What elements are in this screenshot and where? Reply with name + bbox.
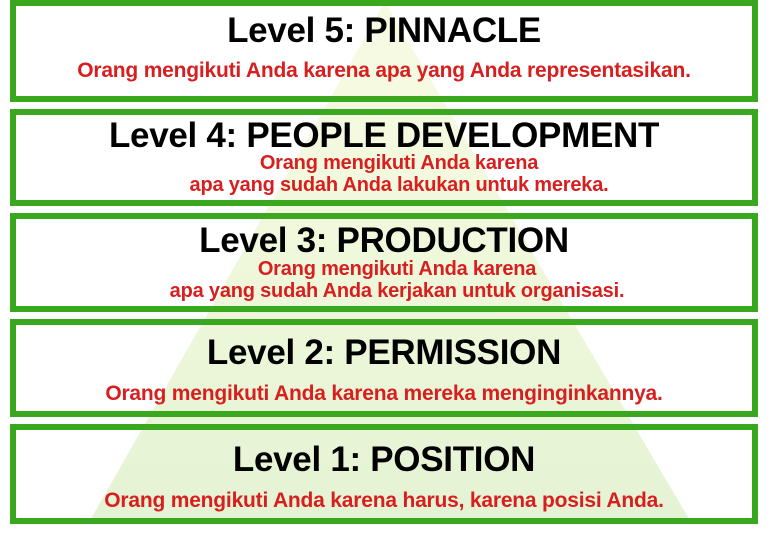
level-4-description-line-1: Orang mengikuti Anda karena	[46, 152, 752, 174]
level-box-level-2[interactable]: Level 2: PERMISSION Orang mengikuti Anda…	[10, 319, 758, 417]
level-3-title: Level 3: PRODUCTION	[16, 223, 752, 259]
level-3-description: Orang mengikuti Anda karena apa yang sud…	[16, 258, 752, 303]
level-2-description: Orang mengikuti Anda karena mereka mengi…	[16, 382, 752, 406]
level-5-description: Orang mengikuti Anda karena apa yang And…	[16, 59, 752, 83]
level-4-title: Level 4: PEOPLE DEVELOPMENT	[16, 118, 752, 154]
level-5-title: Level 5: PINNACLE	[16, 13, 752, 49]
level-box-level-3[interactable]: Level 3: PRODUCTION Orang mengikuti Anda…	[10, 213, 758, 311]
level-box-level-4[interactable]: Level 4: PEOPLE DEVELOPMENT Orang mengik…	[10, 109, 758, 206]
level-1-description: Orang mengikuti Anda karena harus, karen…	[16, 489, 752, 513]
level-4-description-line-2: apa yang sudah Anda lakukan untuk mereka…	[46, 174, 752, 196]
levels-stack: Level 5: PINNACLE Orang mengikuti Anda k…	[0, 0, 770, 536]
level-5-description-line-1: Orang mengikuti Anda karena apa yang And…	[16, 59, 752, 83]
level-box-level-1[interactable]: Level 1: POSITION Orang mengikuti Anda k…	[10, 424, 758, 524]
level-4-description: Orang mengikuti Anda karena apa yang sud…	[16, 152, 752, 197]
level-2-title: Level 2: PERMISSION	[16, 335, 752, 371]
level-3-description-line-1: Orang mengikuti Anda karena	[42, 258, 752, 280]
level-box-level-5[interactable]: Level 5: PINNACLE Orang mengikuti Anda k…	[10, 0, 758, 102]
level-1-title: Level 1: POSITION	[16, 442, 752, 478]
level-1-description-line-1: Orang mengikuti Anda karena harus, karen…	[16, 489, 752, 513]
level-2-description-line-1: Orang mengikuti Anda karena mereka mengi…	[16, 382, 752, 406]
level-3-description-line-2: apa yang sudah Anda kerjakan untuk organ…	[42, 280, 752, 302]
pyramid-infographic: Level 5: PINNACLE Orang mengikuti Anda k…	[0, 0, 770, 536]
